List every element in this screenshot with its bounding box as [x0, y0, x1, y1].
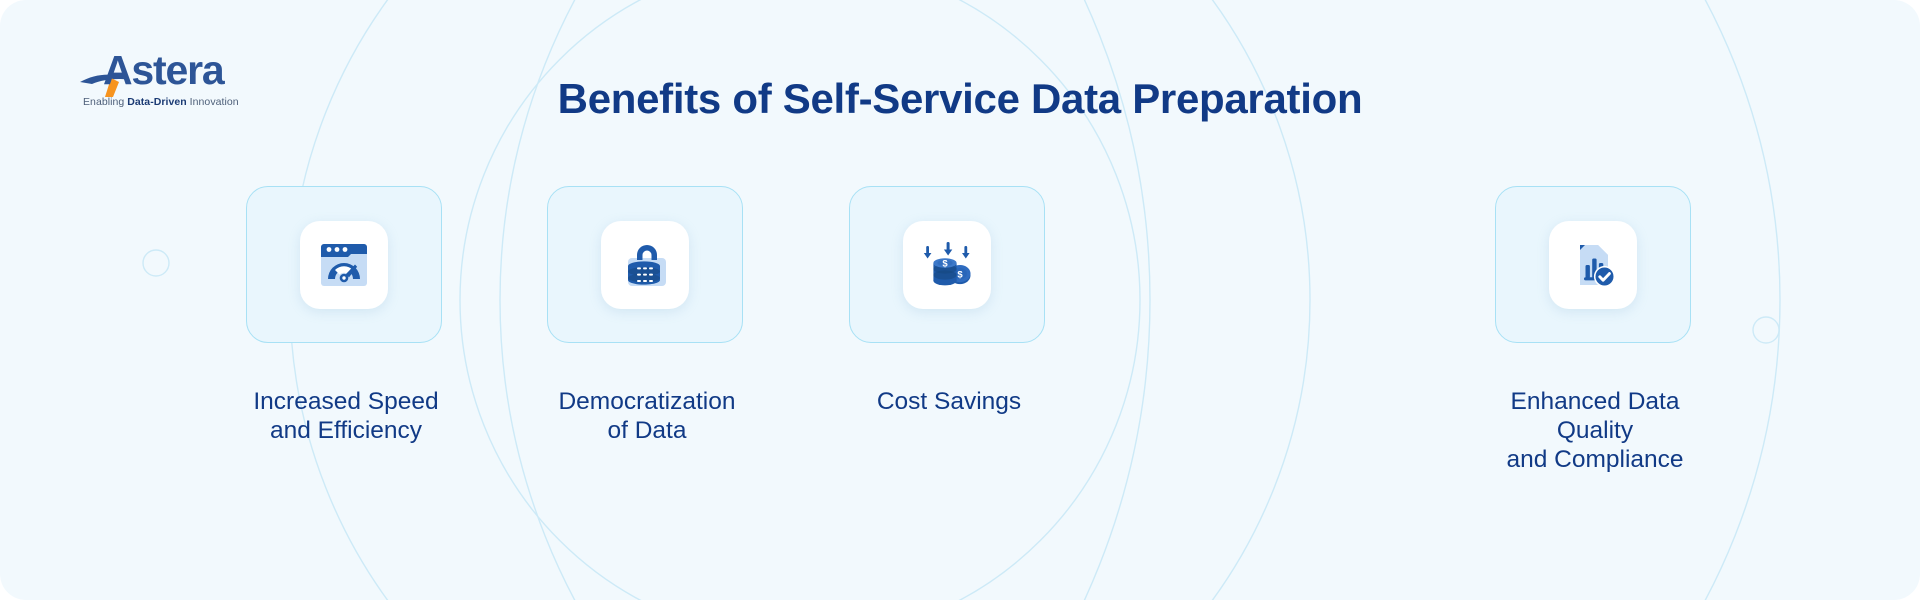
dashboard-speedometer-icon — [318, 239, 370, 291]
benefit-card-data-quality[interactable]: Enhanced Data Quality and Compliance — [1495, 186, 1695, 474]
card-label: Cost Savings — [849, 387, 1049, 416]
database-padlock-icon — [619, 239, 671, 291]
card-tile — [1495, 186, 1691, 343]
icon-plate — [300, 221, 388, 309]
card-label-line1: Enhanced Data Quality — [1511, 388, 1680, 444]
benefits-card-row: Increased Speed and Efficiency — [246, 186, 1691, 496]
card-label-line1: Democratization — [558, 388, 735, 415]
left-edge-circle-marker — [143, 250, 169, 276]
card-label: Increased Speed and Efficiency — [246, 387, 446, 445]
card-tile — [246, 186, 442, 343]
card-label-line1: Cost Savings — [877, 388, 1021, 415]
icon-plate: $ $ — [903, 221, 991, 309]
coins-dollar-down-arrows-icon: $ $ — [921, 239, 973, 291]
card-tile: $ $ — [849, 186, 1045, 343]
benefit-card-cost-savings[interactable]: $ $ Cost Saving — [849, 186, 1049, 416]
svg-text:$: $ — [942, 258, 948, 269]
card-label-line2: and Efficiency — [246, 416, 446, 445]
card-label: Enhanced Data Quality and Compliance — [1495, 387, 1695, 474]
benefit-card-democratization[interactable]: Democratization of Data — [547, 186, 747, 445]
document-bar-chart-check-icon — [1567, 239, 1619, 291]
card-label-line2: and Compliance — [1495, 445, 1695, 474]
right-edge-circle-marker — [1753, 317, 1779, 343]
benefit-card-increased-speed[interactable]: Increased Speed and Efficiency — [246, 186, 446, 445]
icon-plate — [1549, 221, 1637, 309]
icon-plate — [601, 221, 689, 309]
card-label-line1: Increased Speed — [253, 388, 438, 415]
infographic-banner: Astera Enabling Data-Driven Innovation B… — [0, 0, 1920, 600]
card-label-line2: of Data — [547, 416, 747, 445]
svg-text:$: $ — [957, 269, 963, 280]
card-label: Democratization of Data — [547, 387, 747, 445]
page-title: Benefits of Self-Service Data Preparatio… — [0, 74, 1920, 124]
card-tile — [547, 186, 743, 343]
